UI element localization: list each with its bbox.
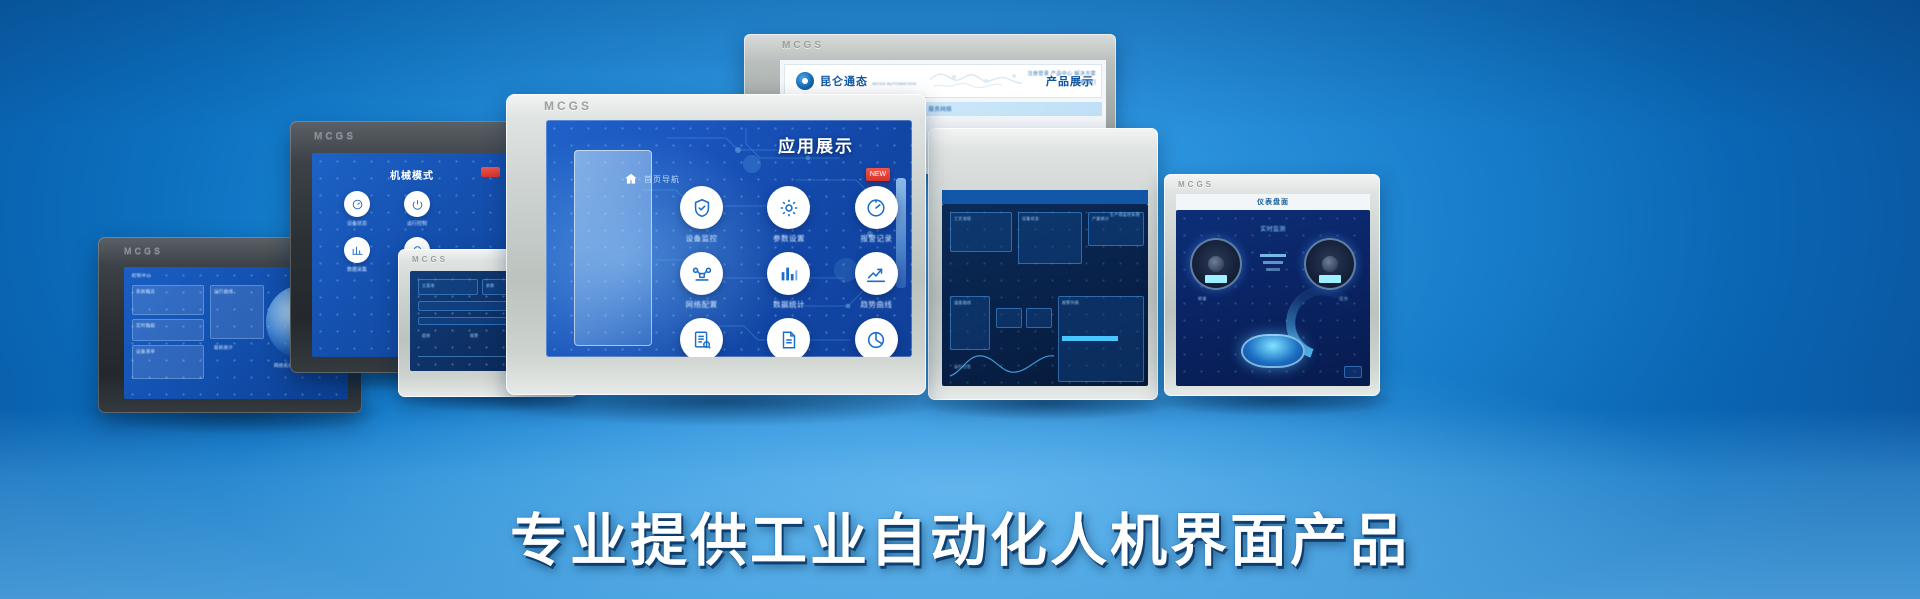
device-center-hero[interactable]: MCGS 应用展示 (506, 94, 926, 395)
panel-label: 产量统计 (1092, 216, 1109, 222)
nav-item[interactable]: 服务网络 (928, 105, 952, 113)
screen-icon-button[interactable]: 配方管理 (751, 318, 826, 357)
pie-chart-icon (855, 318, 898, 357)
gauge-left (1190, 238, 1242, 290)
network-icon (680, 252, 723, 295)
gauge-icon (855, 186, 898, 229)
company-logo-icon (796, 72, 814, 90)
screen-title: 控制中心 (132, 273, 151, 279)
home-label: 首页导航 (644, 174, 680, 185)
icon-caption: 趋势曲线 (860, 299, 892, 310)
screen-icon-button[interactable]: 统计报表 (839, 318, 912, 357)
bar-chart-icon (767, 252, 810, 295)
icon-grid: 设备监控 参数设置 报警记录 (664, 186, 912, 357)
status-badge (481, 167, 500, 177)
panel-box (418, 301, 518, 311)
panel-label: 温度曲线 (954, 300, 971, 306)
screen-icon-button[interactable]: 网络配置 (664, 252, 739, 310)
device-brand-label: MCGS (314, 131, 356, 142)
gauge-label: 转速 (1198, 296, 1207, 302)
device-screen[interactable]: 工艺流程 设备状态 产量统计 报警列表 温度曲线 运行日志 生产线监控系统 (942, 204, 1148, 386)
screen-icon-button[interactable]: 报表管理 (664, 318, 739, 357)
screen-icon-button[interactable]: 设备状态 (344, 191, 370, 227)
divider (1260, 254, 1286, 257)
icon-caption: 数据采集 (347, 266, 367, 273)
device-brand-label: MCGS (1178, 180, 1214, 189)
screen-icon-button[interactable]: 趋势曲线 (839, 252, 912, 310)
chart-icon (344, 237, 370, 263)
trend-chart-icon (855, 252, 898, 295)
panel-label: 设备状态 (1022, 216, 1039, 222)
home-nav-item[interactable]: 首页导航 (624, 172, 680, 186)
report-icon (680, 318, 723, 357)
screen-title: 机械模式 (390, 167, 434, 182)
screen-icon-button[interactable]: 数据统计 (751, 252, 826, 310)
home-icon (624, 172, 638, 186)
device-brand-label: MCGS (412, 255, 448, 264)
panel-label: 报警 (470, 333, 479, 339)
device-scada[interactable]: 工艺流程 设备状态 产量统计 报警列表 温度曲线 运行日志 生产线监控系统 (928, 128, 1158, 400)
panel-label: 趋势 (422, 333, 431, 339)
panel-box (996, 308, 1022, 328)
screen-header: 仪表盘面 (1176, 194, 1370, 210)
document-icon (767, 318, 810, 357)
screen-icon-button[interactable]: 参数设置 (751, 186, 826, 244)
logo-main: 昆仑通态 (820, 76, 868, 88)
progress-bar (1062, 336, 1118, 341)
header-meta: 注册登录 产品中心 解决方案 联系我们 (1028, 70, 1096, 88)
screen-icon-button[interactable]: 报警记录 (839, 186, 912, 244)
panel-box (1026, 308, 1052, 328)
icon-caption: 参数设置 (773, 233, 805, 244)
screen-icon-button[interactable]: 运行控制 (404, 191, 430, 227)
gear-icon (767, 186, 810, 229)
world-map-graphic (924, 66, 1034, 96)
shield-check-icon (680, 186, 723, 229)
screen-title: 仪表盘面 (1257, 197, 1289, 207)
meta-line: 联系我们 (1028, 79, 1096, 86)
vehicle-pod-graphic (1241, 334, 1305, 368)
icon-caption: 运行控制 (407, 220, 427, 227)
screen-icon-button[interactable]: 数据采集 (344, 237, 370, 273)
screen-subtitle: 实时监测 (1260, 224, 1285, 233)
status-badge: NEW (866, 168, 890, 181)
panel-label: 工艺流程 (954, 216, 971, 222)
page-headline: 专业提供工业自动化人机界面产品 (0, 495, 1920, 577)
power-icon (404, 191, 430, 217)
icon-caption: 设备状态 (347, 220, 367, 227)
company-logo-text: 昆仑通态 MCGS AUTOMATION (820, 72, 916, 90)
divider (1263, 261, 1283, 264)
gauge-icon (344, 191, 370, 217)
screen-icon-button[interactable]: 设备监控 (664, 186, 739, 244)
icon-caption: 网络配置 (686, 299, 718, 310)
site-header: 昆仑通态 MCGS AUTOMATION 产品展示 注册登录 产品中心 解决方案… (784, 64, 1102, 98)
device-screen[interactable]: 应用展示 首页导航 NEW 设备监控 (546, 120, 912, 357)
screen-title-bar (942, 190, 1148, 204)
device-right-gauges[interactable]: MCGS 仪表盘面 实时监测 转速 压力 (1164, 174, 1380, 396)
panel-label: 主菜单 (422, 283, 435, 289)
hero-banner: MCGS 控制中心 系统概览 实时数据 设备清单 运行曲线 能耗统计 网络拓扑 … (0, 0, 1920, 599)
screen-title: 生产线监控系统 (1110, 212, 1140, 218)
divider (1266, 268, 1280, 271)
panel-label: 系统概览 (136, 289, 155, 295)
icon-caption: 数据统计 (773, 299, 805, 310)
panel-label: 设备清单 (136, 349, 155, 355)
panel-label: 运行曲线 (214, 289, 233, 295)
panel-label: 实时数据 (136, 323, 155, 329)
icon-caption: 报警记录 (860, 233, 892, 244)
device-brand-label: MCGS (124, 246, 163, 256)
panel-label: 能耗统计 (214, 345, 233, 351)
device-brand-label: MCGS (782, 40, 824, 51)
status-chip (1344, 366, 1362, 378)
device-brand-label: MCGS (544, 99, 592, 113)
meta-line: 注册登录 产品中心 解决方案 (1028, 70, 1096, 77)
icon-caption: 设备监控 (686, 233, 718, 244)
panel-label: 参数 (486, 283, 495, 289)
screen-title: 应用展示 (778, 132, 854, 157)
panel-label: 报警列表 (1062, 300, 1079, 306)
gauge-right (1304, 238, 1356, 290)
device-screen[interactable]: 实时监测 转速 压力 (1176, 210, 1370, 386)
logo-sub: MCGS AUTOMATION (872, 81, 916, 86)
trend-curve (948, 342, 1058, 382)
